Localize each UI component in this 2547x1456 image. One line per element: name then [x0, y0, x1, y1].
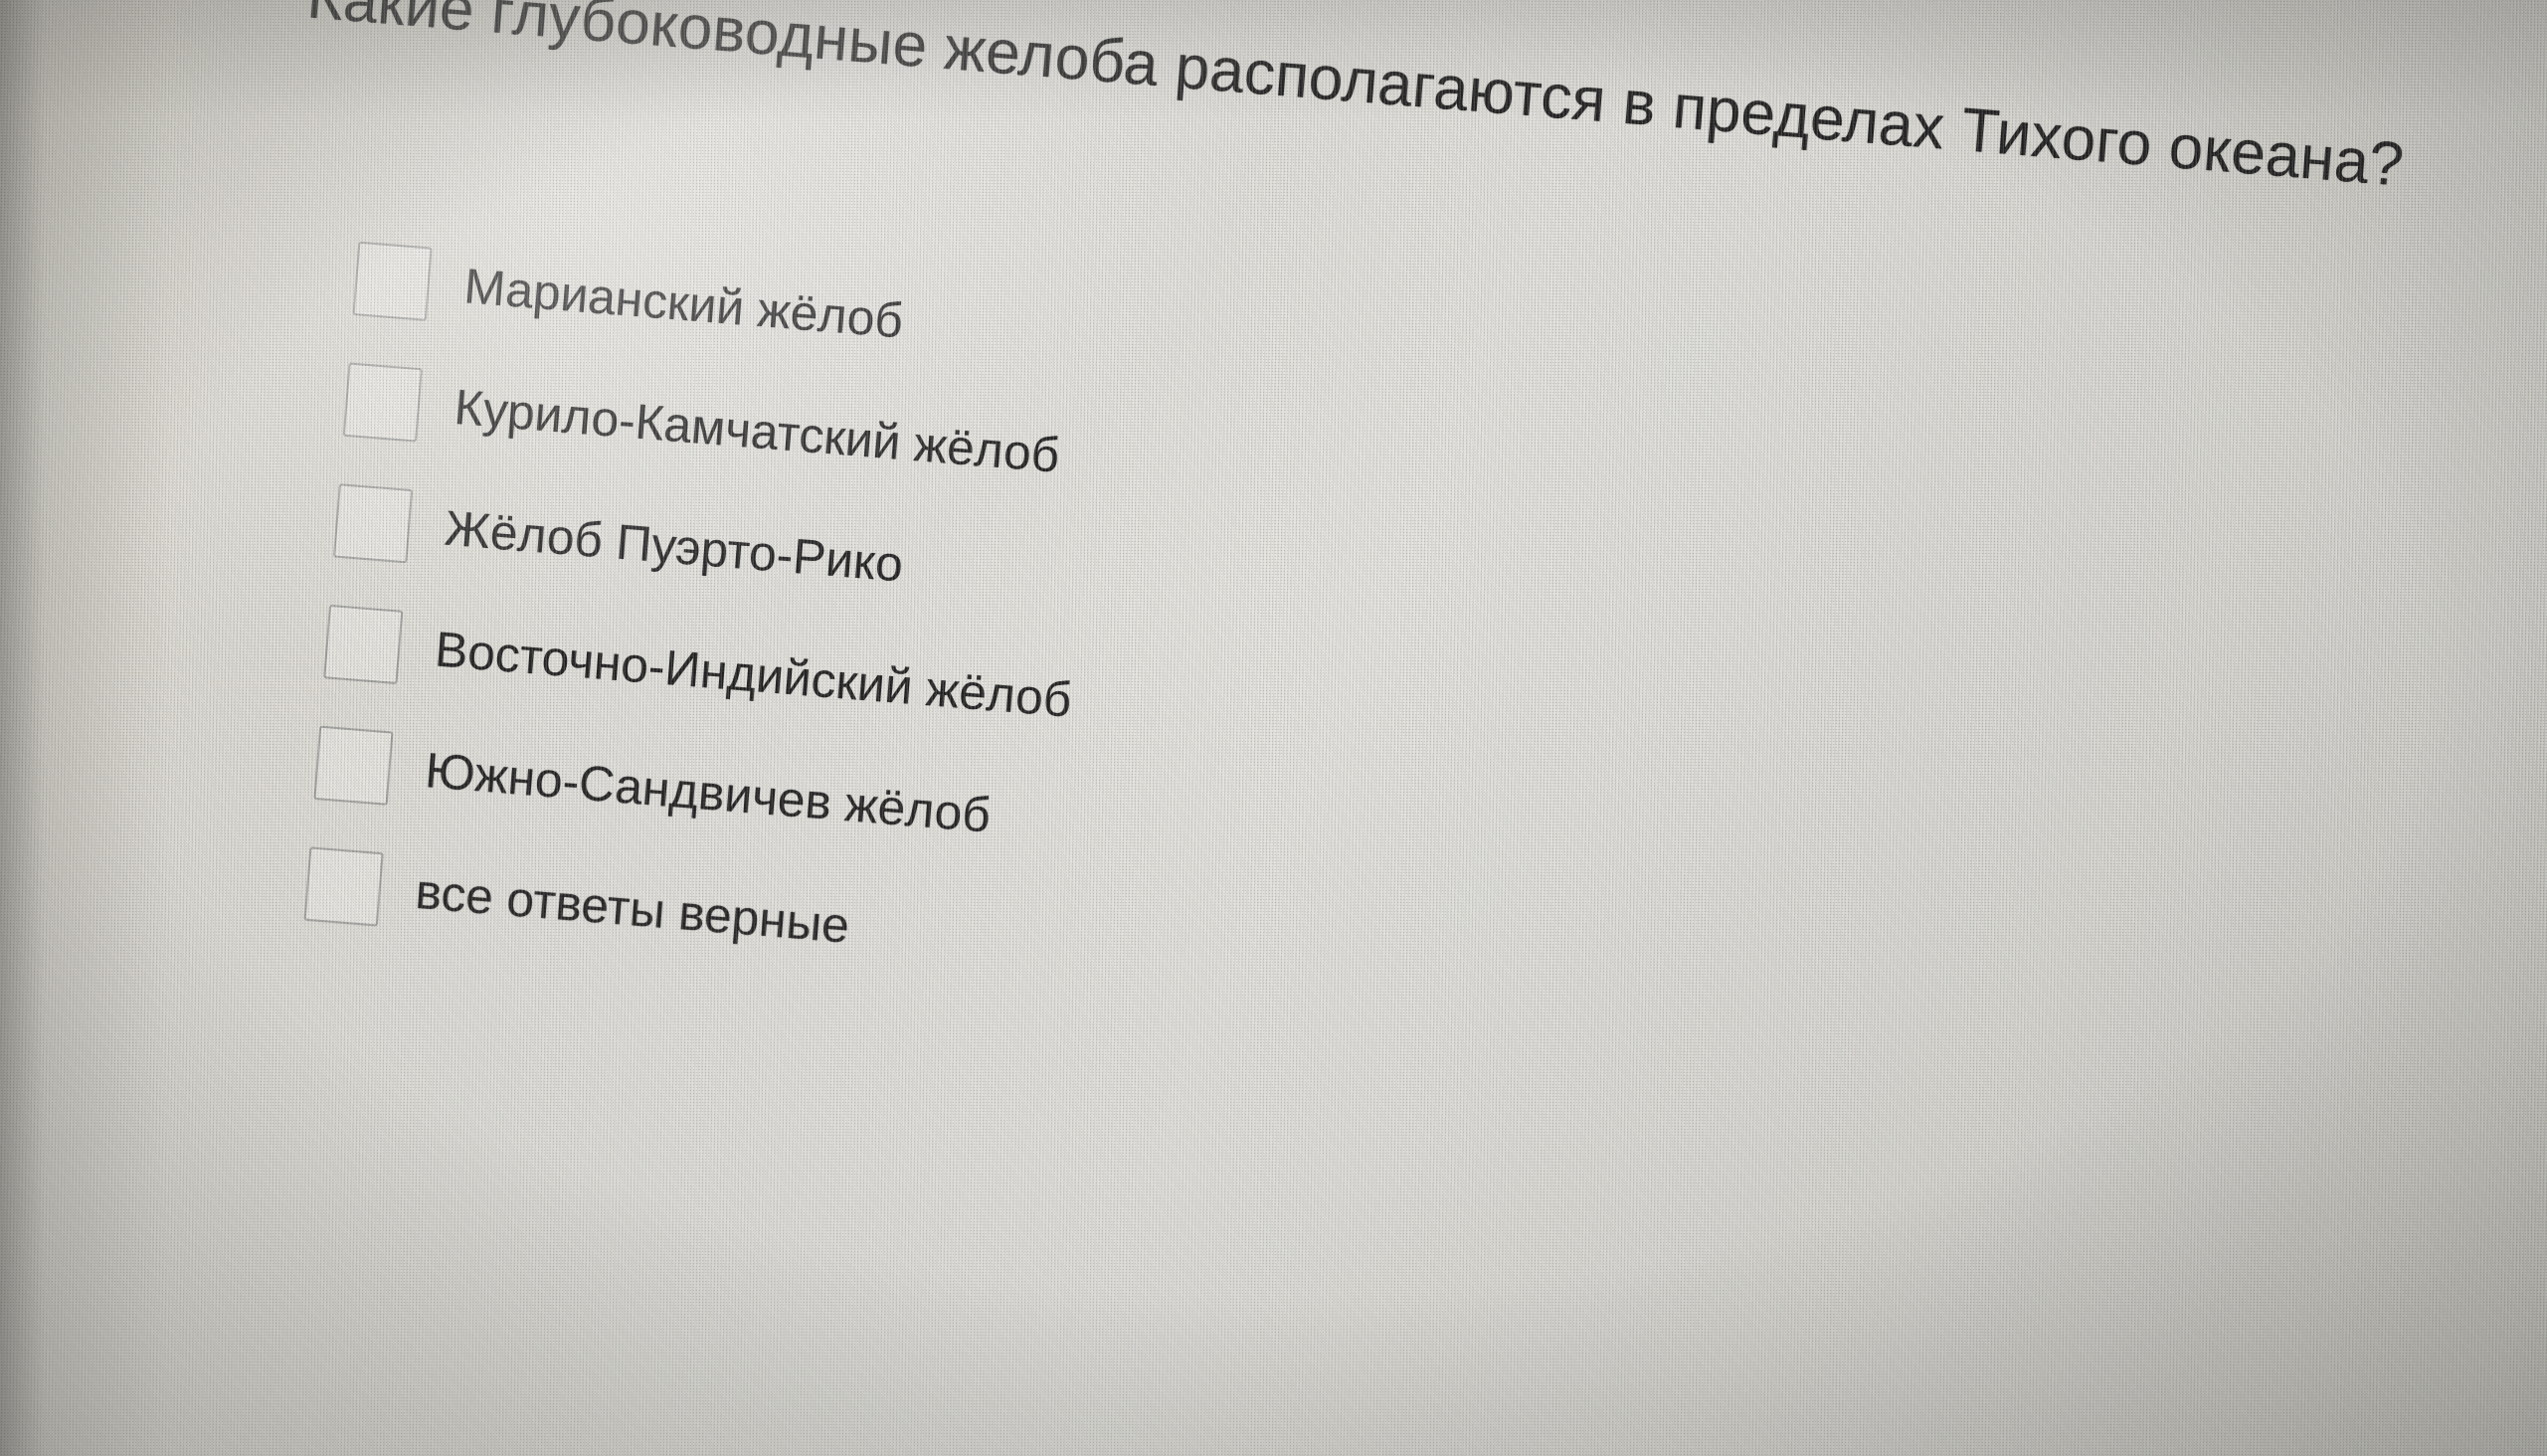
answer-options-list: Марианский жёлоб Курило-Камчатский жёлоб…: [302, 218, 2105, 1085]
answer-option-label: Жёлоб Пуэрто-Рико: [443, 504, 904, 591]
answer-option-label: все ответы верные: [414, 868, 851, 953]
answer-option-label: Марианский жёлоб: [462, 263, 905, 347]
screen-photo: Какие глубоководные желоба располагаются…: [0, 0, 2547, 1456]
checkbox-unchecked-icon[interactable]: [304, 846, 384, 926]
answer-option-label: Восточно-Индийский жёлоб: [433, 626, 1073, 726]
checkbox-unchecked-icon[interactable]: [352, 242, 432, 321]
quiz-page: Какие глубоководные желоба располагаются…: [0, 0, 2547, 1456]
checkbox-unchecked-icon[interactable]: [343, 362, 423, 442]
answer-option-label: Южно-Сандвичев жёлоб: [424, 747, 993, 841]
answer-option-label: Курило-Камчатский жёлоб: [453, 384, 1061, 481]
checkbox-unchecked-icon[interactable]: [323, 605, 403, 684]
checkbox-unchecked-icon[interactable]: [333, 483, 413, 563]
checkbox-unchecked-icon[interactable]: [313, 726, 393, 806]
